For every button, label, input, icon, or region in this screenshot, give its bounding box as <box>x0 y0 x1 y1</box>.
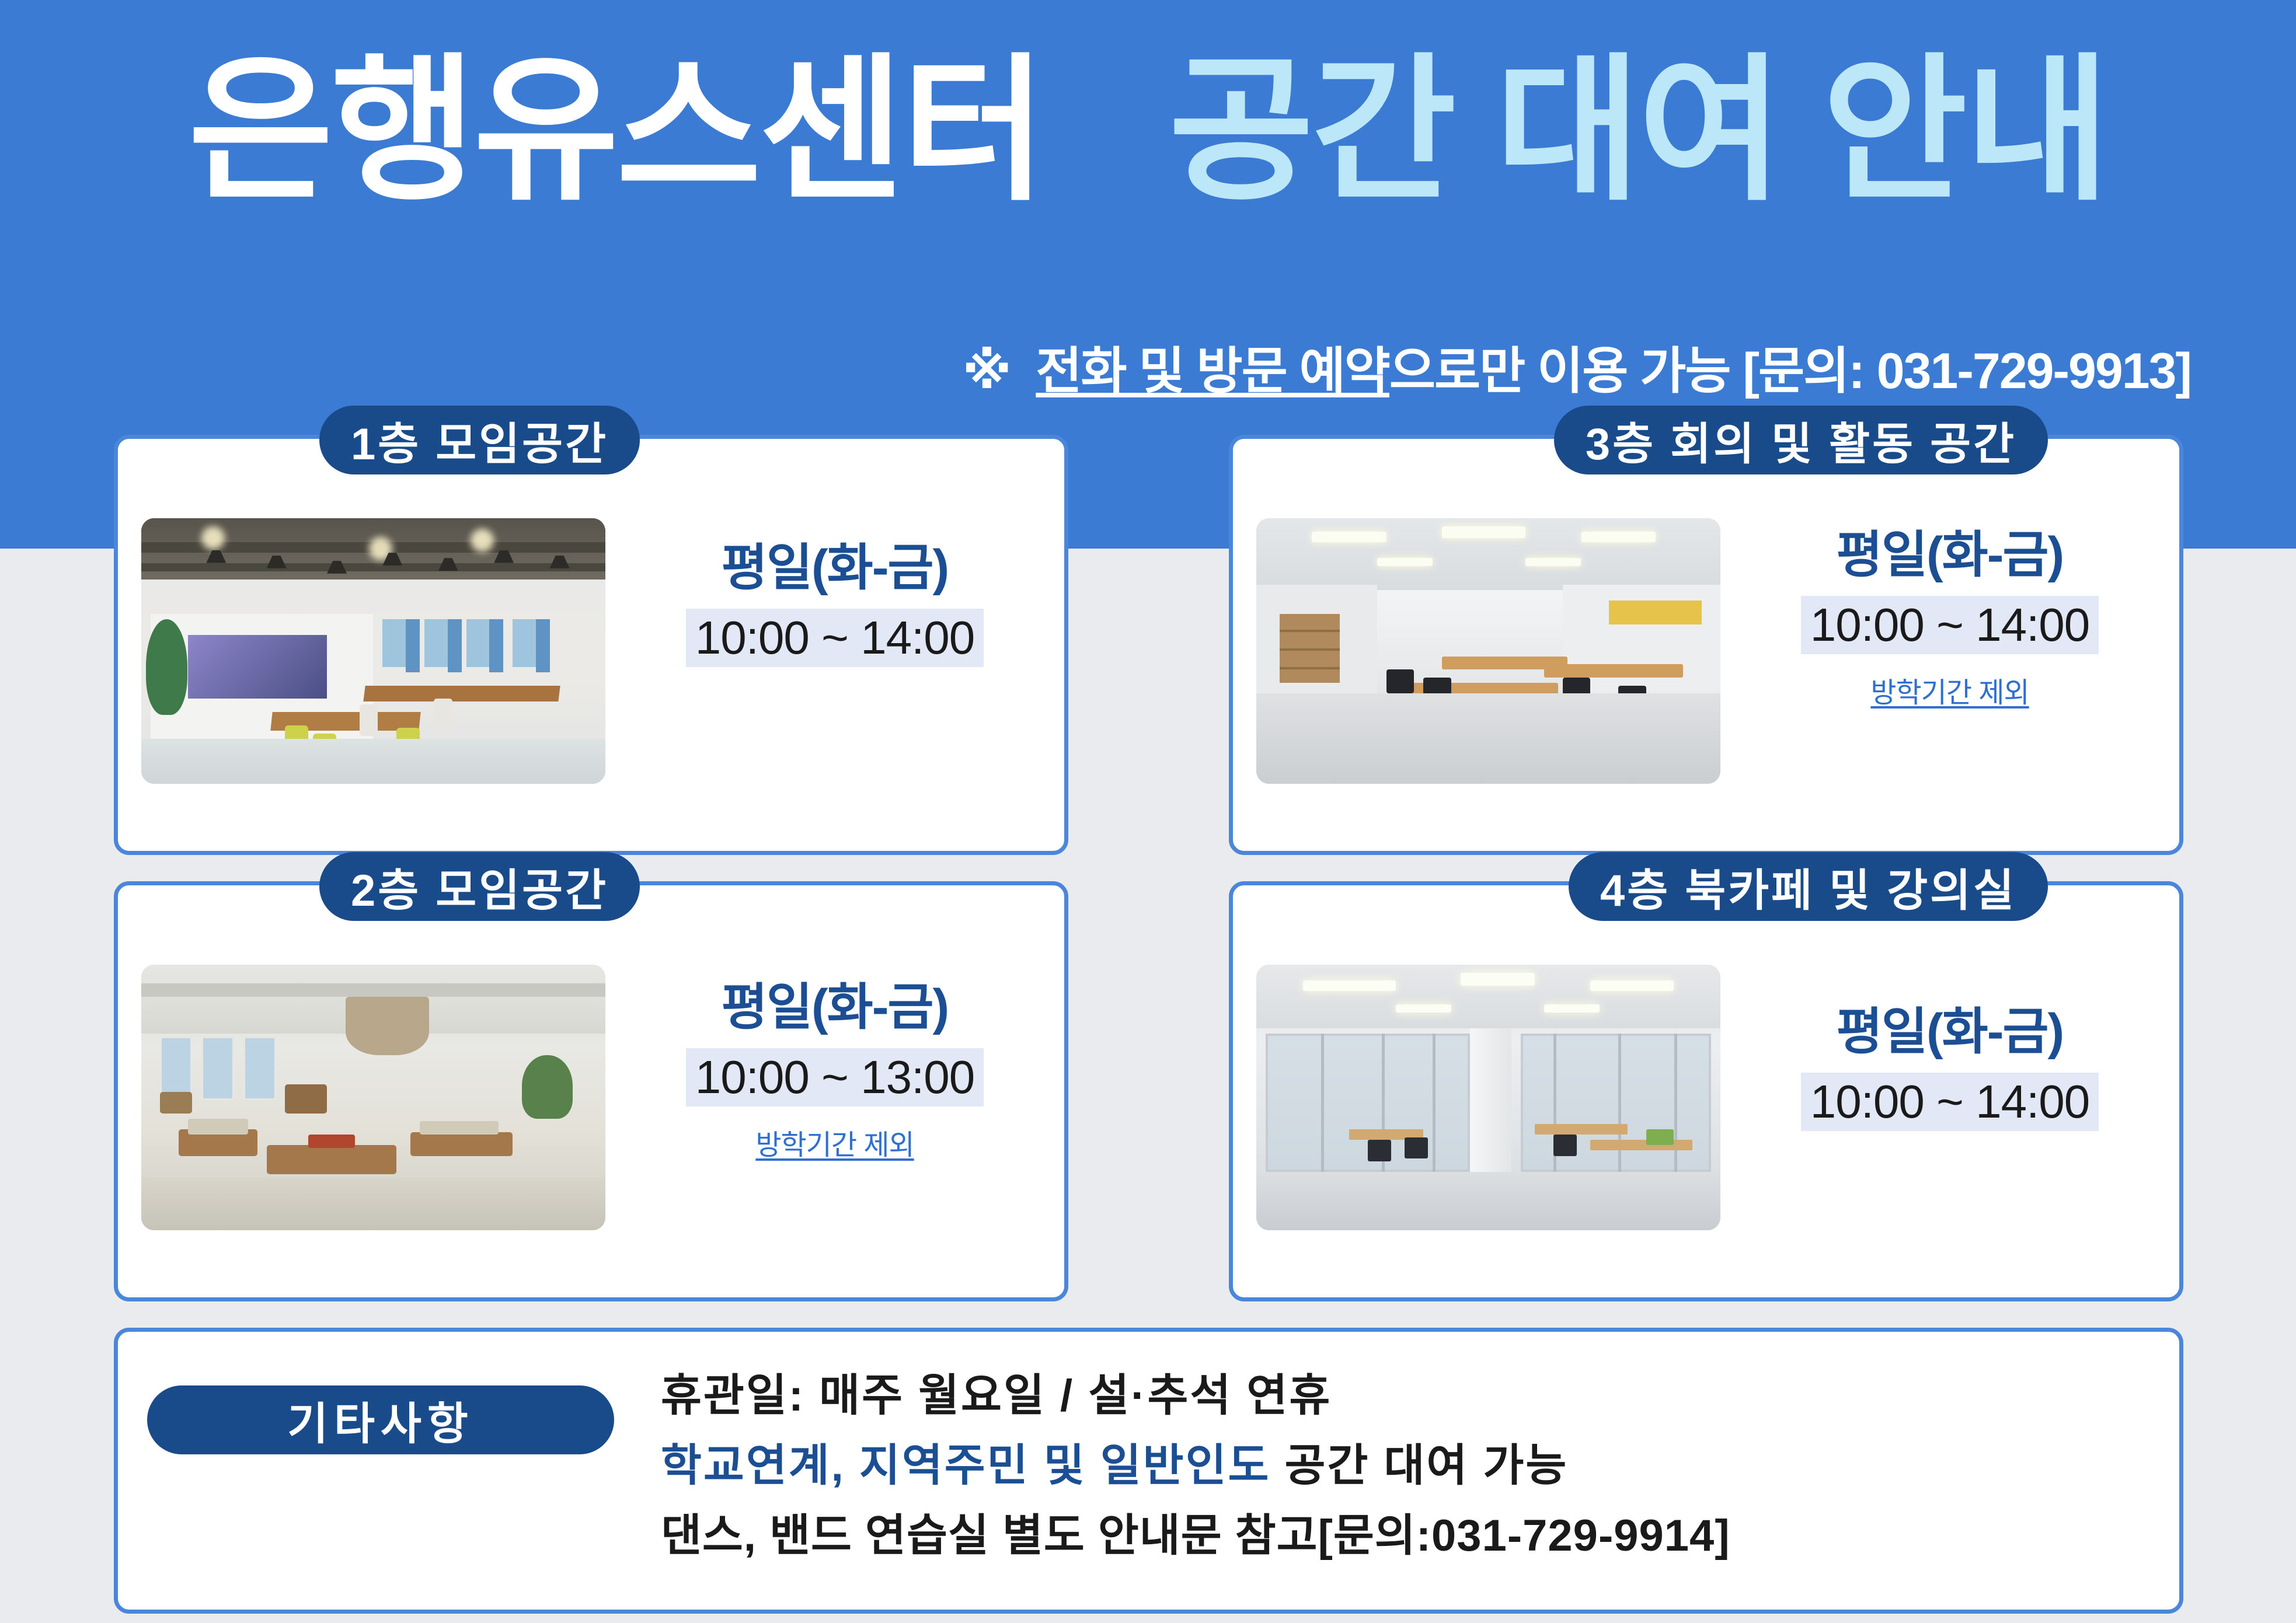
page-title: 은행유스센터 공간 대여 안내 <box>0 53 2296 210</box>
additional-info-title: 기타사항 <box>147 1385 614 1454</box>
space-card-floor-4-photo <box>1256 965 1720 1230</box>
space-card-floor-1-weekday: 평일(화-금) <box>605 538 1064 598</box>
space-card-floor-2-hours: 10:00 ~ 13:00 <box>686 1048 984 1107</box>
additional-info-card: 기타사항 휴관일: 매주 월요일 / 설·추석 연휴 학교연계, 지역주민 및 … <box>114 1328 2183 1614</box>
space-card-floor-2-note: 방학기간 제외 <box>605 1122 1064 1163</box>
reservation-notice-underlined: 전화 및 방문 예약 <box>1036 343 1389 399</box>
space-card-floor-3-photo <box>1256 518 1720 784</box>
space-card-floor-4-title: 4층 북카페 및 강의실 <box>1569 852 2048 921</box>
page-title-part1: 은행유스센터 <box>189 43 1044 219</box>
space-card-floor-1-title: 1층 모임공간 <box>319 406 640 474</box>
additional-info-line-2-rest: 공간 대여 가능 <box>1270 1441 1568 1491</box>
additional-info-line-2: 학교연계, 지역주민 및 일반인도 공간 대여 가능 <box>661 1431 2155 1501</box>
space-card-floor-1-photo <box>141 518 605 784</box>
space-card-floor-4-hours: 10:00 ~ 14:00 <box>1801 1073 2099 1131</box>
space-card-floor-4: 4층 북카페 및 강의실 <box>1229 881 2183 1301</box>
space-card-floor-2: 2층 모임공간 <box>114 881 1068 1301</box>
page-title-part2: 공간 대여 안내 <box>1169 43 2107 219</box>
space-card-floor-3-weekday: 평일(화-금) <box>1720 525 2179 585</box>
reservation-notice-rest: 으로만 이용 가능 [문의: 031-729-9913] <box>1389 343 2191 399</box>
additional-info-lines: 휴관일: 매주 월요일 / 설·추석 연휴 학교연계, 지역주민 및 일반인도 … <box>661 1361 2155 1571</box>
asterisk-icon: ※ <box>963 343 1011 399</box>
space-card-floor-1-hours: 10:00 ~ 14:00 <box>686 609 984 667</box>
space-card-floor-3: 3층 회의 및 활동 공간 <box>1229 435 2183 855</box>
space-card-floor-3-hours: 10:00 ~ 14:00 <box>1801 596 2099 654</box>
additional-info-line-1: 휴관일: 매주 월요일 / 설·추석 연휴 <box>661 1361 2155 1431</box>
additional-info-line-3: 댄스, 밴드 연습실 별도 안내문 참고[문의:031-729-9914] <box>661 1501 2155 1571</box>
reservation-notice: ※ 전화 및 방문 예약으로만 이용 가능 [문의: 031-729-9913] <box>963 330 2191 403</box>
space-card-floor-4-weekday: 평일(화-금) <box>1720 1002 2179 1062</box>
space-card-floor-3-title: 3층 회의 및 활동 공간 <box>1554 406 2048 474</box>
space-card-floor-2-weekday: 평일(화-금) <box>605 978 1064 1038</box>
additional-info-line-2-highlight: 학교연계, 지역주민 및 일반인도 <box>661 1441 1270 1491</box>
space-card-floor-3-note: 방학기간 제외 <box>1720 669 2179 710</box>
space-card-floor-2-photo <box>141 965 605 1230</box>
space-card-floor-2-title: 2층 모임공간 <box>319 852 640 921</box>
space-card-floor-1: 1층 모임공간 <box>114 435 1068 855</box>
